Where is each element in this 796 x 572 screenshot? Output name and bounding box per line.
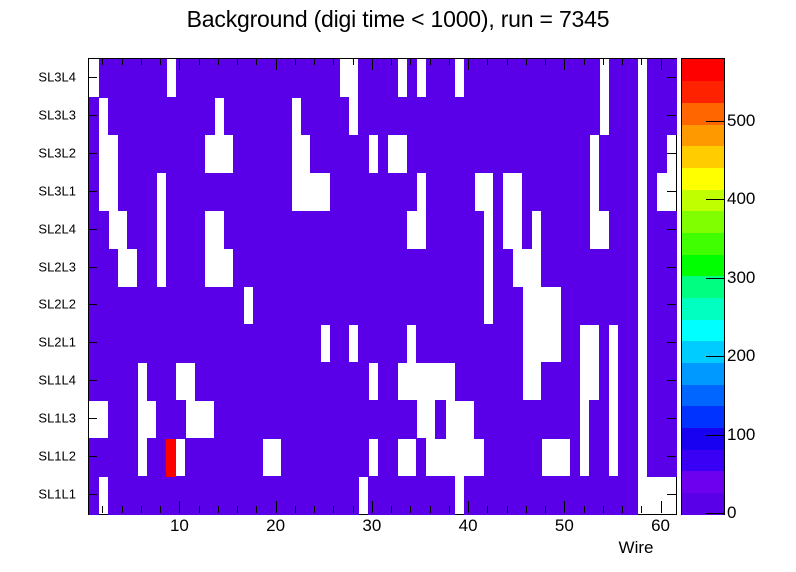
x-axis-tick-top <box>122 58 123 65</box>
heatmap-cell <box>493 173 503 212</box>
x-axis-tick-top <box>641 58 642 65</box>
x-axis-tick-label: 60 <box>651 516 670 536</box>
heatmap-cell <box>339 324 349 363</box>
heatmap-cell <box>647 173 657 212</box>
heatmap-cell <box>628 173 638 212</box>
y-axis-tick <box>667 494 676 495</box>
color-bar-band <box>682 124 724 146</box>
x-axis-minor-tick <box>545 506 546 513</box>
color-bar-band <box>682 189 724 211</box>
color-bar-band <box>682 449 724 471</box>
y-axis-tick-label: SL2L1 <box>38 335 76 350</box>
color-bar-tick-label: 100 <box>727 425 755 445</box>
y-axis-tick <box>88 191 97 192</box>
color-bar-tick <box>706 278 724 279</box>
color-bar-band <box>682 59 724 81</box>
x-axis-major-tick <box>276 501 277 513</box>
x-axis-tick-top <box>487 58 488 65</box>
x-axis-tick-top <box>276 58 277 70</box>
heatmap-cell <box>156 59 166 98</box>
color-bar-tick <box>706 199 724 200</box>
heatmap-cell <box>512 324 522 363</box>
heatmap-cell <box>281 173 291 212</box>
heatmap-cell <box>493 211 503 250</box>
y-axis-tick <box>667 418 676 419</box>
color-bar-band <box>682 254 724 276</box>
heatmap-cell <box>310 324 320 363</box>
heatmap-cell <box>666 249 676 288</box>
x-axis-minor-tick <box>507 506 508 513</box>
y-axis-tick-label: SL1L1 <box>38 487 76 502</box>
heatmap-cell <box>387 438 397 477</box>
x-axis-tick-top <box>391 58 392 65</box>
x-axis-minor-tick <box>584 506 585 513</box>
heatmap-cell <box>204 97 214 136</box>
x-axis-minor-tick <box>333 506 334 513</box>
x-axis-tick-top <box>430 58 431 65</box>
x-axis-minor-tick <box>526 506 527 513</box>
color-bar-tick <box>706 513 724 514</box>
y-axis-tick-label: SL2L2 <box>38 297 76 312</box>
heatmap-cell <box>580 173 590 212</box>
x-axis-tick-top <box>199 58 200 65</box>
heatmap-cell <box>445 476 455 515</box>
heatmap-cell <box>195 211 205 250</box>
heatmap-cell <box>233 287 243 326</box>
heatmap-cell <box>253 438 263 477</box>
heatmap-cell <box>580 211 590 250</box>
x-axis-tick-label: 40 <box>459 516 478 536</box>
heatmap-cell <box>127 438 137 477</box>
x-axis-minor-tick <box>102 506 103 513</box>
heatmap-cell <box>599 400 609 439</box>
heatmap-cell <box>589 59 599 98</box>
x-axis-tick-top <box>218 58 219 65</box>
heatmap-cell <box>532 438 542 477</box>
x-axis-tick-top <box>410 58 411 65</box>
heatmap-cell <box>99 211 109 250</box>
heatmap-cell <box>89 135 99 174</box>
y-axis-tick <box>88 304 97 305</box>
y-axis-tick <box>667 77 676 78</box>
heatmap-cell <box>195 135 205 174</box>
heatmap-cell <box>666 211 676 250</box>
x-axis-tick-top <box>237 58 238 65</box>
heatmap-cell <box>570 438 580 477</box>
y-axis-tick-label: SL3L3 <box>38 107 76 122</box>
heatmap-cell <box>464 173 474 212</box>
heatmap-cell <box>628 249 638 288</box>
heatmap-cell <box>657 135 667 174</box>
y-axis-tick-label: SL3L1 <box>38 183 76 198</box>
color-bar-band <box>682 427 724 449</box>
x-axis-title: Wire <box>619 538 654 558</box>
x-axis-minor-tick <box>314 506 315 513</box>
y-axis-tick <box>88 494 97 495</box>
heatmap-cell <box>416 438 426 477</box>
heatmap-cell <box>570 362 580 401</box>
heatmap-cell <box>628 287 638 326</box>
x-axis-tick-top <box>179 58 180 70</box>
x-axis-tick-top <box>603 58 604 65</box>
heatmap-cell <box>628 211 638 250</box>
heatmap-cell <box>435 400 445 439</box>
heatmap-cell <box>666 59 676 98</box>
x-axis-major-tick <box>179 501 180 513</box>
y-axis-tick <box>667 229 676 230</box>
y-axis-tick <box>88 115 97 116</box>
heatmap-cell <box>512 287 522 326</box>
heatmap-cell <box>666 324 676 363</box>
x-axis-minor-tick <box>141 506 142 513</box>
color-bar-tick <box>706 435 724 436</box>
x-axis-tick-top <box>141 58 142 65</box>
x-axis-tick-top <box>314 58 315 65</box>
heatmap-cell <box>628 476 638 515</box>
heatmap-cell <box>474 287 484 326</box>
y-axis-tick <box>88 267 97 268</box>
x-axis-major-tick <box>468 501 469 513</box>
x-axis-major-tick <box>564 501 565 513</box>
y-axis-tick <box>667 342 676 343</box>
heatmap-cell <box>666 400 676 439</box>
color-bar-band <box>682 362 724 384</box>
y-axis-tick <box>667 153 676 154</box>
heatmap-cell <box>89 97 99 136</box>
y-axis-tick <box>88 77 97 78</box>
heatmap-cell <box>522 211 532 250</box>
heatmap-cell <box>445 59 455 98</box>
heatmap-cell <box>570 400 580 439</box>
color-bar-band <box>682 471 724 493</box>
x-axis-tick-top <box>468 58 469 70</box>
x-axis-tick-top <box>507 58 508 65</box>
heatmap-cell <box>580 135 590 174</box>
y-axis-tick-label: SL1L4 <box>38 373 76 388</box>
heatmap-cell <box>147 173 157 212</box>
x-axis-minor-tick <box>430 506 431 513</box>
x-axis-tick-top <box>353 58 354 65</box>
heatmap-cell <box>358 362 368 401</box>
x-axis-tick-top <box>295 58 296 65</box>
y-axis-tick <box>88 456 97 457</box>
y-axis-tick <box>88 153 97 154</box>
heatmap-cell <box>474 211 484 250</box>
heatmap-cell <box>589 97 599 136</box>
heatmap-cell <box>628 438 638 477</box>
color-bar-band <box>682 146 724 168</box>
heatmap-cell <box>127 362 137 401</box>
y-axis-tick <box>667 267 676 268</box>
x-axis-tick-top <box>622 58 623 65</box>
y-axis-tick-label: SL3L2 <box>38 145 76 160</box>
heatmap-cell <box>599 324 609 363</box>
x-axis-minor-tick <box>295 506 296 513</box>
color-bar-tick-label: 500 <box>727 111 755 131</box>
color-bar <box>681 58 725 515</box>
heatmap-cell <box>407 400 417 439</box>
heatmap-cells <box>89 59 676 514</box>
color-bar-band <box>682 341 724 363</box>
heatmap-cell <box>281 97 291 136</box>
heatmap-cell <box>503 249 513 288</box>
color-bar-tick-label: 400 <box>727 189 755 209</box>
heatmap-cell <box>176 400 186 439</box>
color-bar-band <box>682 406 724 428</box>
x-axis-tick-label: 10 <box>170 516 189 536</box>
heatmap-cell <box>666 97 676 136</box>
heatmap-cell <box>281 135 291 174</box>
x-axis-minor-tick <box>487 506 488 513</box>
heatmap-plot-area <box>88 58 677 515</box>
heatmap-cell <box>628 97 638 136</box>
heatmap-cell <box>474 249 484 288</box>
y-axis-tick <box>667 456 676 457</box>
x-axis-minor-tick <box>641 506 642 513</box>
x-axis-tick-label: 30 <box>362 516 381 536</box>
heatmap-cell <box>407 173 417 212</box>
y-axis-tick <box>88 342 97 343</box>
color-bar-band <box>682 319 724 341</box>
color-bar-band <box>682 81 724 103</box>
x-axis-minor-tick <box>622 506 623 513</box>
y-axis-tick-label: SL2L3 <box>38 259 76 274</box>
heatmap-cell <box>378 135 388 174</box>
heatmap-cell <box>628 59 638 98</box>
x-axis-tick-top <box>584 58 585 65</box>
heatmap-cell <box>599 362 609 401</box>
x-axis-minor-tick <box>237 506 238 513</box>
heatmap-cell <box>628 400 638 439</box>
x-axis-tick-top <box>545 58 546 65</box>
y-axis-tick <box>667 115 676 116</box>
color-bar-tick <box>706 356 724 357</box>
heatmap-cell <box>397 324 407 363</box>
x-axis-tick-top <box>564 58 565 70</box>
x-axis-tick-top <box>256 58 257 65</box>
x-axis-minor-tick <box>160 506 161 513</box>
x-axis-tick-top <box>160 58 161 65</box>
y-axis-tick <box>667 191 676 192</box>
heatmap-cell <box>407 59 417 98</box>
heatmap-cell <box>358 135 368 174</box>
heatmap-cell <box>387 59 397 98</box>
heatmap-cell <box>570 324 580 363</box>
y-axis-tick <box>88 380 97 381</box>
color-bar-tick-label: 200 <box>727 346 755 366</box>
x-axis-minor-tick <box>256 506 257 513</box>
heatmap-cell <box>666 362 676 401</box>
heatmap-cell <box>89 173 99 212</box>
x-axis-minor-tick <box>218 506 219 513</box>
y-axis-labels: SL1L1SL1L2SL1L3SL1L4SL2L1SL2L2SL2L3SL2L4… <box>0 58 84 513</box>
heatmap-cell <box>147 249 157 288</box>
heatmap-cell <box>127 400 137 439</box>
heatmap-cell <box>666 287 676 326</box>
y-axis-tick-label: SL2L4 <box>38 221 76 236</box>
color-bar-band <box>682 384 724 406</box>
heatmap-cell <box>166 438 176 477</box>
heatmap-cell <box>166 362 176 401</box>
heatmap-cell <box>89 476 99 515</box>
x-axis-minor-tick <box>410 506 411 513</box>
color-bar-tick-label: 300 <box>727 268 755 288</box>
x-axis-minor-tick <box>391 506 392 513</box>
heatmap-cell <box>195 249 205 288</box>
x-axis-minor-tick <box>122 506 123 513</box>
x-axis-tick-top <box>661 58 662 70</box>
x-axis-tick-label: 50 <box>555 516 574 536</box>
y-axis-tick <box>667 304 676 305</box>
heatmap-cell <box>599 438 609 477</box>
x-axis-major-tick <box>372 501 373 513</box>
color-bar-tick-label: 0 <box>727 503 736 523</box>
heatmap-cell <box>628 324 638 363</box>
x-axis-tick-top <box>449 58 450 65</box>
y-axis-tick <box>88 229 97 230</box>
heatmap-cell <box>666 438 676 477</box>
x-axis-minor-tick <box>199 506 200 513</box>
color-bar-band <box>682 167 724 189</box>
heatmap-cell <box>628 362 638 401</box>
y-axis-tick-label: SL1L3 <box>38 411 76 426</box>
color-bar-tick <box>706 121 724 122</box>
heatmap-cell <box>339 97 349 136</box>
y-axis-tick-label: SL3L4 <box>38 69 76 84</box>
y-axis-tick-label: SL1L2 <box>38 449 76 464</box>
heatmap-cell <box>628 135 638 174</box>
color-bar-band <box>682 232 724 254</box>
heatmap-cell <box>108 249 118 288</box>
heatmap-cell <box>512 362 522 401</box>
chart-title: Background (digi time < 1000), run = 734… <box>0 6 796 33</box>
x-axis-tick-top <box>333 58 334 65</box>
heatmap-cell <box>397 211 407 250</box>
x-axis-tick-label: 20 <box>266 516 285 536</box>
heatmap-cell <box>330 59 340 98</box>
x-axis-minor-tick <box>353 506 354 513</box>
color-bar-band <box>682 297 724 319</box>
x-axis-tick-top <box>372 58 373 70</box>
x-axis-tick-top <box>526 58 527 65</box>
x-axis-tick-top <box>102 58 103 65</box>
x-axis-minor-tick <box>449 506 450 513</box>
x-axis-minor-tick <box>603 506 604 513</box>
color-bar-band <box>682 492 724 514</box>
chart-canvas: Background (digi time < 1000), run = 734… <box>0 0 796 572</box>
y-axis-tick <box>88 418 97 419</box>
heatmap-cell <box>387 362 397 401</box>
heatmap-cell <box>147 211 157 250</box>
y-axis-tick <box>667 380 676 381</box>
x-axis-major-tick <box>661 501 662 513</box>
color-bar-band <box>682 211 724 233</box>
heatmap-cell <box>358 438 368 477</box>
